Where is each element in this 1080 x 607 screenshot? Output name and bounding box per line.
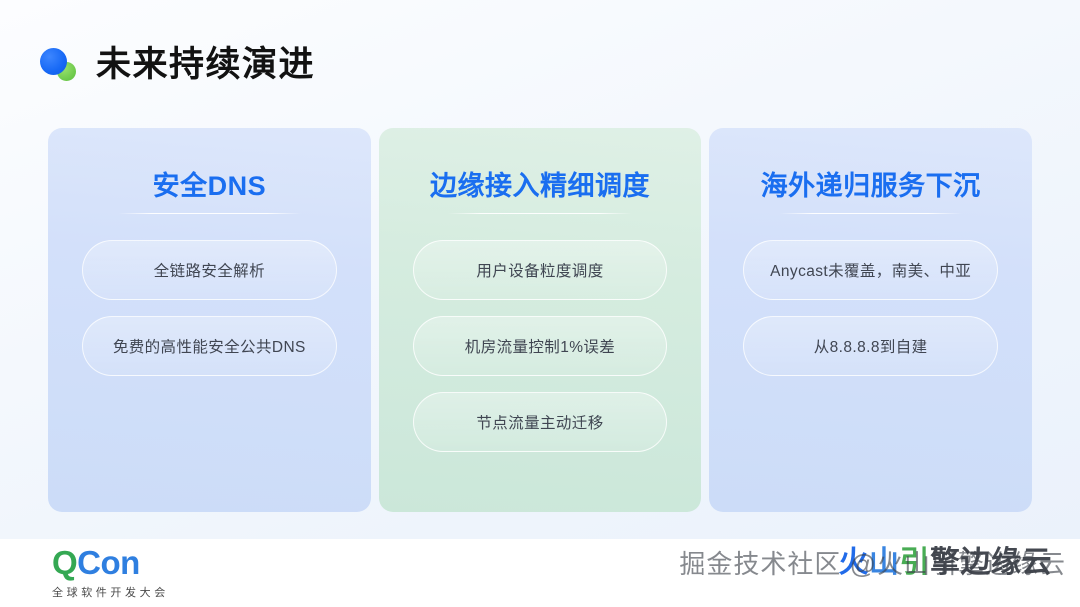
card-item-list: 用户设备粒度调度 机房流量控制1%误差 节点流量主动迁移 — [413, 240, 668, 452]
card-group: 安全DNS 全链路安全解析 免费的高性能安全公共DNS 边缘接入精细调度 用户设… — [48, 128, 1032, 512]
list-item[interactable]: 机房流量控制1%误差 — [413, 316, 668, 376]
qcon-wordmark: QCon — [52, 546, 252, 579]
card-title: 海外递归服务下沉 — [743, 172, 998, 202]
card-overseas-recursive[interactable]: 海外递归服务下沉 Anycast未覆盖，南美、中亚 从8.8.8.8到自建 — [709, 128, 1032, 512]
card-title: 边缘接入精细调度 — [413, 172, 668, 202]
two-circles-icon — [40, 44, 82, 84]
list-item[interactable]: 用户设备粒度调度 — [413, 240, 668, 300]
card-title-divider — [118, 213, 301, 214]
page-title: 未来持续演进 — [40, 38, 315, 90]
list-item[interactable]: 节点流量主动迁移 — [413, 392, 668, 452]
list-item[interactable]: 免费的高性能安全公共DNS — [82, 316, 337, 376]
card-item-list: Anycast未覆盖，南美、中亚 从8.8.8.8到自建 — [743, 240, 998, 376]
qcon-logo-subtitle: 全球软件开发大会 — [52, 584, 252, 600]
list-item[interactable]: 全链路安全解析 — [82, 240, 337, 300]
slide-canvas: 未来持续演进 安全DNS 全链路安全解析 免费的高性能安全公共DNS 边缘接入精… — [0, 0, 1080, 607]
footer-bar: QCon 全球软件开发大会 火山引擎边缘云 掘金技术社区 @火山引擎边缘云 — [0, 539, 1080, 607]
list-item[interactable]: Anycast未覆盖，南美、中亚 — [743, 240, 998, 300]
list-item[interactable]: 从8.8.8.8到自建 — [743, 316, 998, 376]
card-title: 安全DNS — [82, 172, 337, 202]
qcon-logo-q: Q — [52, 544, 77, 581]
card-title-divider — [779, 213, 962, 214]
card-title-divider — [448, 213, 631, 214]
qcon-logo-con: Con — [77, 544, 140, 581]
page-title-text: 未来持续演进 — [96, 47, 315, 82]
card-edge-scheduling[interactable]: 边缘接入精细调度 用户设备粒度调度 机房流量控制1%误差 节点流量主动迁移 — [379, 128, 702, 512]
watermark: 掘金技术社区 @火山引擎边缘云 — [679, 551, 1066, 577]
qcon-logo: QCon 全球软件开发大会 — [52, 546, 252, 600]
blue-circle-icon — [40, 48, 67, 75]
card-safe-dns[interactable]: 安全DNS 全链路安全解析 免费的高性能安全公共DNS — [48, 128, 371, 512]
card-item-list: 全链路安全解析 免费的高性能安全公共DNS — [82, 240, 337, 376]
